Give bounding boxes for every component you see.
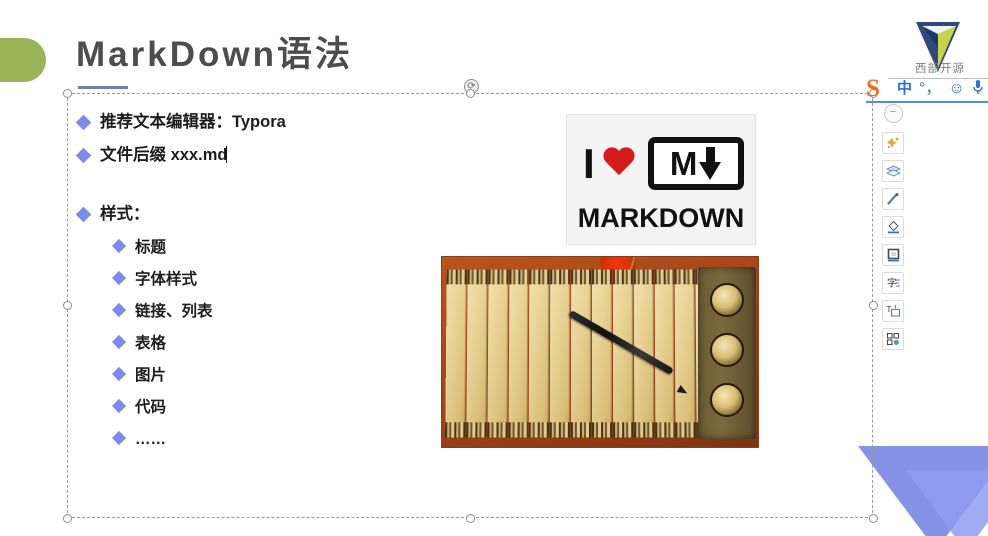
- list-item-label: 链接、列表: [135, 301, 213, 322]
- ime-punctuation-toggle[interactable]: °，: [919, 80, 941, 98]
- bamboo-slips: [445, 270, 739, 438]
- diamond-bullet-icon: [76, 207, 92, 223]
- list-item-label: 样式：: [100, 204, 150, 225]
- down-arrow-icon: [699, 147, 721, 181]
- presentation-slide: MarkDown语法 ⟳ 推荐文本编辑器：Typora 文件后缀 xxx.md …: [0, 0, 988, 536]
- markdown-wordmark: MARKDOWN: [567, 203, 755, 234]
- diamond-bullet-icon: [112, 335, 126, 349]
- sogou-logo-icon[interactable]: S: [866, 76, 892, 102]
- list-item[interactable]: 样式：: [78, 204, 438, 225]
- list-item[interactable]: 推荐文本编辑器：Typora: [78, 112, 438, 133]
- list-item-label: 推荐文本编辑器：Typora: [100, 112, 286, 133]
- diamond-bullet-icon: [112, 271, 126, 285]
- title-underline: [78, 86, 128, 89]
- ime-language-mode[interactable]: 中: [897, 80, 912, 98]
- company-name: 西部开源: [898, 60, 982, 76]
- diamond-bullet-icon: [76, 115, 92, 131]
- fill-color-icon[interactable]: [882, 216, 904, 238]
- list-item[interactable]: 链接、列表: [114, 301, 438, 322]
- frame-icon[interactable]: [882, 244, 904, 266]
- page-title: MarkDown语法: [76, 33, 353, 77]
- resize-handle-bottom-left[interactable]: [63, 514, 72, 523]
- letter-m: M: [670, 147, 697, 180]
- layers-icon[interactable]: [882, 160, 904, 182]
- diamond-bullet-icon: [76, 148, 92, 164]
- right-tool-rail[interactable]: − 字 T: [880, 104, 906, 356]
- bamboo-scroll-photo[interactable]: [441, 256, 759, 448]
- resize-handle-bottom-right[interactable]: [869, 514, 878, 523]
- decor-triangle-light: [906, 470, 988, 536]
- diamond-bullet-icon: [112, 399, 126, 413]
- diamond-bullet-icon: [112, 367, 126, 381]
- list-item-label: 文件后缀 xxx.md: [100, 145, 227, 166]
- resize-handle-top-left[interactable]: [63, 89, 72, 98]
- markdown-mark: M: [648, 137, 744, 190]
- heart-icon: [602, 148, 636, 179]
- diamond-bullet-icon: [112, 303, 126, 317]
- bullet-list[interactable]: 推荐文本编辑器：Typora 文件后缀 xxx.md 样式： 标题 字体样式 链…: [78, 112, 438, 461]
- list-item-label: 字体样式: [135, 269, 197, 290]
- ime-voice-input-icon[interactable]: [972, 79, 984, 100]
- list-spacer: [78, 178, 438, 204]
- list-item-label: ……: [135, 429, 166, 450]
- diamond-bullet-icon: [112, 431, 126, 445]
- list-item[interactable]: 文件后缀 xxx.md: [78, 145, 438, 166]
- list-item-label: 表格: [135, 333, 166, 354]
- smart-layout-icon[interactable]: [882, 132, 904, 154]
- list-item-label: 代码: [135, 397, 166, 418]
- diamond-bullet-icon: [112, 239, 126, 253]
- medallion: [710, 333, 744, 367]
- resize-handle-middle-right[interactable]: [869, 301, 878, 310]
- rolled-section: [698, 267, 756, 439]
- list-item[interactable]: 字体样式: [114, 269, 438, 290]
- medallion: [710, 283, 744, 317]
- collapse-rail-button[interactable]: −: [884, 104, 903, 123]
- text-cursor: [226, 146, 227, 163]
- list-item[interactable]: 代码: [114, 397, 438, 418]
- resize-handle-bottom-center[interactable]: [466, 514, 475, 523]
- sogou-ime-toolbar[interactable]: S 中 °， ☺: [866, 76, 988, 102]
- brush-icon[interactable]: [882, 188, 904, 210]
- list-item-label: 标题: [135, 237, 166, 258]
- markdown-logo-image[interactable]: I M MARKDOWN: [566, 114, 756, 245]
- resize-handle-middle-left[interactable]: [63, 301, 72, 310]
- element-library-icon[interactable]: [882, 328, 904, 350]
- medallion: [710, 383, 744, 417]
- markdown-logo-row: I M: [583, 137, 744, 190]
- list-item[interactable]: 图片: [114, 365, 438, 386]
- list-item[interactable]: ……: [114, 429, 438, 450]
- list-item-label: 图片: [135, 365, 166, 386]
- ime-emoji-icon[interactable]: ☺: [948, 80, 964, 98]
- ime-toolbar-underline: [866, 101, 988, 103]
- letter-i: I: [583, 143, 595, 185]
- svg-text:字: 字: [887, 277, 897, 290]
- text-box-icon[interactable]: T: [882, 300, 904, 322]
- title-decoration-shape: [0, 38, 46, 82]
- list-item[interactable]: 标题: [114, 237, 438, 258]
- resize-handle-top-center[interactable]: [466, 89, 475, 98]
- text-format-icon[interactable]: 字: [882, 272, 904, 294]
- list-item[interactable]: 表格: [114, 333, 438, 354]
- svg-text:T: T: [886, 305, 892, 314]
